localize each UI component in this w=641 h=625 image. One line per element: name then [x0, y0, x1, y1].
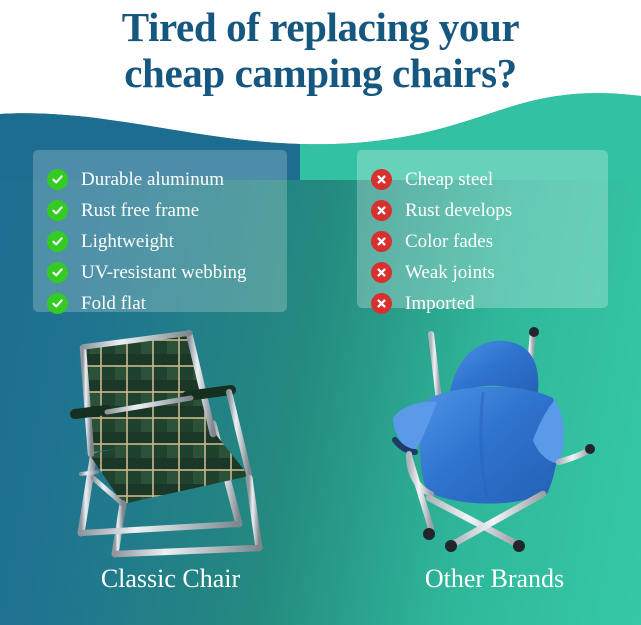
- cons-card: Cheap steel Rust develops Color fades We…: [357, 150, 608, 308]
- cross-circle-icon: [371, 231, 392, 252]
- list-item-label: Imported: [405, 293, 475, 314]
- check-circle-icon: [47, 169, 68, 190]
- list-item: UV-resistant webbing: [47, 257, 287, 288]
- list-item: Cheap steel: [371, 164, 608, 195]
- product-caption: Classic Chair: [101, 564, 240, 594]
- cons-list: Cheap steel Rust develops Color fades We…: [357, 150, 608, 319]
- headline-line-1: Tired of replacing your: [122, 4, 519, 50]
- list-item-label: Weak joints: [405, 262, 495, 283]
- cross-circle-icon: [371, 262, 392, 283]
- pros-list: Durable aluminum Rust free frame Lightwe…: [33, 150, 287, 319]
- list-item-label: Rust free frame: [81, 200, 199, 221]
- blue-fabric-folding-camp-chair-image: [387, 322, 602, 560]
- cross-circle-icon: [371, 169, 392, 190]
- list-item-label: Cheap steel: [405, 169, 493, 190]
- classic-aluminum-webbed-lawn-chair-image: [63, 328, 278, 560]
- list-item-label: UV-resistant webbing: [81, 262, 247, 283]
- product-caption: Other Brands: [425, 564, 564, 594]
- list-item: Weak joints: [371, 257, 608, 288]
- check-circle-icon: [47, 293, 68, 314]
- cross-circle-icon: [371, 293, 392, 314]
- list-item-label: Color fades: [405, 231, 493, 252]
- check-circle-icon: [47, 231, 68, 252]
- infographic-canvas: Tired of replacing your cheap camping ch…: [0, 0, 641, 625]
- product-classic-chair: Classic Chair: [48, 328, 293, 594]
- list-item: Color fades: [371, 226, 608, 257]
- pros-card: Durable aluminum Rust free frame Lightwe…: [33, 150, 287, 312]
- list-item: Rust develops: [371, 195, 608, 226]
- cross-circle-icon: [371, 200, 392, 221]
- list-item: Fold flat: [47, 288, 287, 319]
- check-circle-icon: [47, 200, 68, 221]
- header: Tired of replacing your cheap camping ch…: [0, 0, 641, 108]
- list-item-label: Durable aluminum: [81, 169, 224, 190]
- list-item: Rust free frame: [47, 195, 287, 226]
- check-circle-icon: [47, 262, 68, 283]
- list-item: Lightweight: [47, 226, 287, 257]
- list-item: Durable aluminum: [47, 164, 287, 195]
- list-item: Imported: [371, 288, 608, 319]
- list-item-label: Rust develops: [405, 200, 512, 221]
- list-item-label: Fold flat: [81, 293, 146, 314]
- list-item-label: Lightweight: [81, 231, 174, 252]
- headline-line-2: cheap camping chairs?: [124, 50, 517, 96]
- product-other-brands: Other Brands: [372, 322, 617, 594]
